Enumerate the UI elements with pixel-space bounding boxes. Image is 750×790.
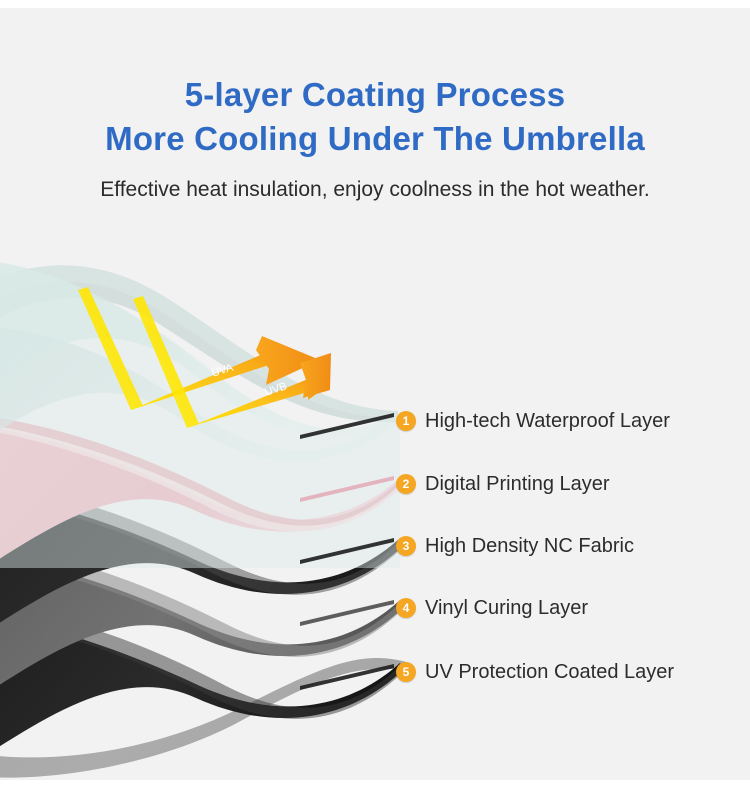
header-block: 5-layer Coating Process More Cooling Und…	[0, 8, 750, 204]
callout-label-3: High Density NC Fabric	[425, 535, 634, 557]
badge-number-5: 5	[396, 662, 416, 682]
callout-label-1: High-tech Waterproof Layer	[425, 410, 670, 432]
callout-layer-4[interactable]: 4 Vinyl Curing Layer	[396, 597, 588, 619]
page-title-line-1: 5-layer Coating Process	[0, 74, 750, 116]
page-subtitle: Effective heat insulation, enjoy coolnes…	[0, 176, 750, 204]
callout-layer-3[interactable]: 3 High Density NC Fabric	[396, 535, 634, 557]
badge-number-1: 1	[396, 411, 416, 431]
callout-label-2: Digital Printing Layer	[425, 473, 610, 495]
callout-layer-5[interactable]: 5 UV Protection Coated Layer	[396, 661, 674, 683]
page-title-line-2: More Cooling Under The Umbrella	[0, 118, 750, 160]
infographic-canvas: 5-layer Coating Process More Cooling Und…	[0, 8, 750, 780]
callout-layer-1[interactable]: 1 High-tech Waterproof Layer	[396, 410, 670, 432]
promo-infographic: 5-layer Coating Process More Cooling Und…	[0, 0, 750, 790]
badge-number-3: 3	[396, 536, 416, 556]
callout-label-4: Vinyl Curing Layer	[425, 597, 588, 619]
callout-label-5: UV Protection Coated Layer	[425, 661, 674, 683]
layer-sheet-1	[0, 259, 404, 568]
badge-number-4: 4	[396, 598, 416, 618]
badge-number-2: 2	[396, 474, 416, 494]
callout-layer-2[interactable]: 2 Digital Printing Layer	[396, 473, 610, 495]
